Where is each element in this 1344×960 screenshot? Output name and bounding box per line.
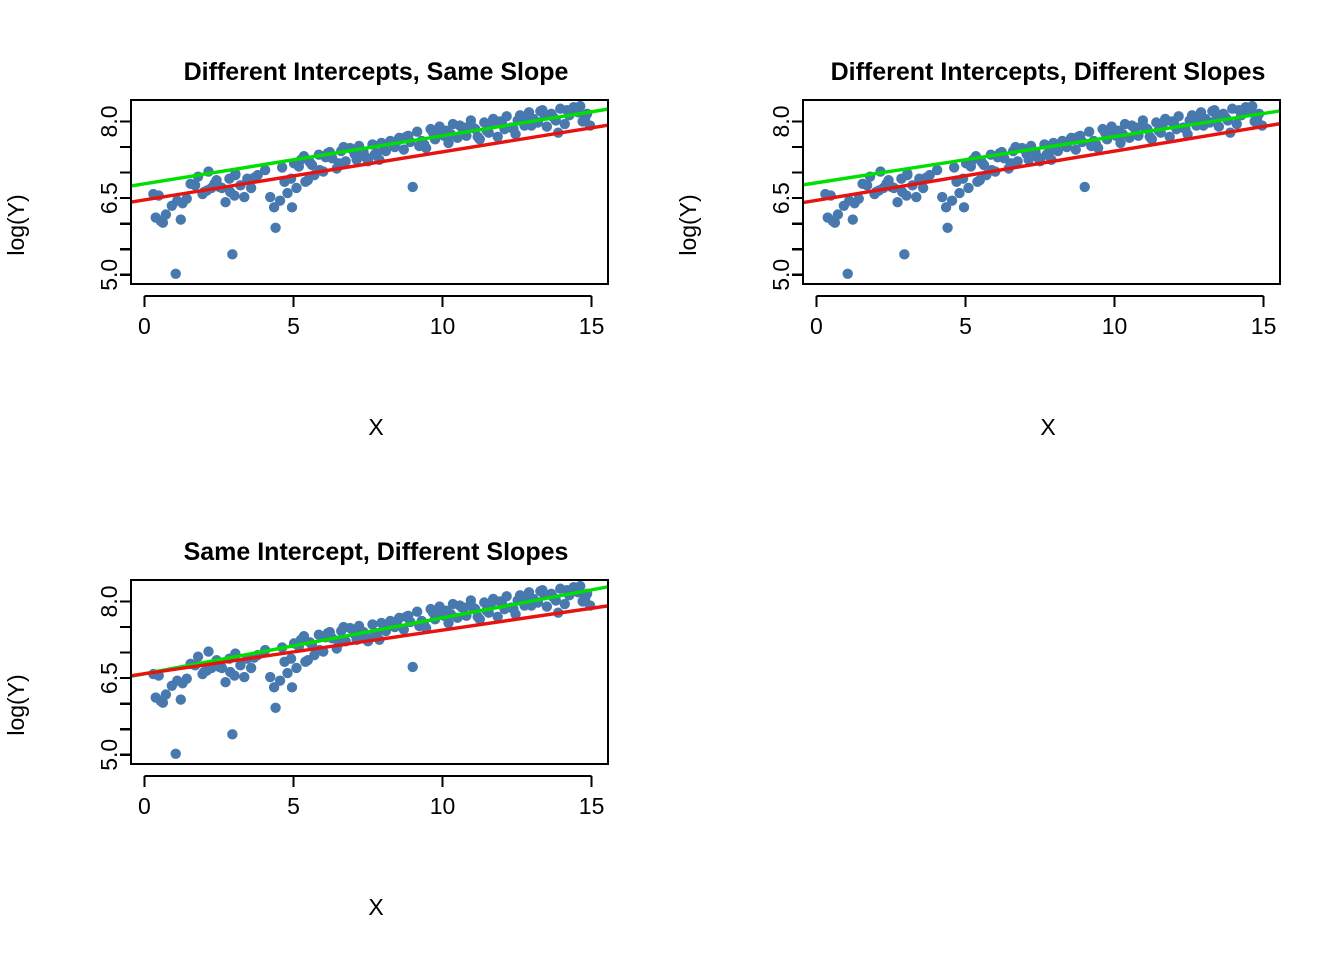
scatter-point	[291, 183, 301, 193]
x-axis-tick-label: 5	[287, 313, 300, 339]
scatter-point	[246, 663, 256, 673]
scatter-point	[883, 175, 893, 185]
x-axis-tick-label: 0	[138, 793, 151, 819]
scatter-point	[473, 132, 483, 142]
scatter-point	[161, 209, 171, 219]
scatter-point	[303, 655, 313, 665]
scatter-point	[286, 654, 296, 664]
scatter-point	[833, 209, 843, 219]
scatter-point	[963, 183, 973, 193]
scatter-point	[892, 197, 902, 207]
scatter-point	[443, 618, 453, 628]
panel-1-xlabel: X	[368, 414, 383, 440]
scatter-point	[932, 165, 942, 175]
x-axis-tick-label: 10	[430, 313, 456, 339]
scatter-point	[360, 152, 370, 162]
scatter-point	[265, 672, 275, 682]
y-axis-tick-label: 5.0	[768, 259, 794, 291]
scatter-point	[459, 602, 469, 612]
scatter-point	[270, 223, 280, 233]
x-axis-tick-label: 0	[138, 313, 151, 339]
scatter-point	[843, 269, 853, 279]
scatter-point	[408, 662, 418, 672]
panel-1-plot-area: 5.06.58.0051015	[96, 100, 608, 339]
green-fit-line	[131, 109, 608, 186]
scatter-point	[299, 631, 309, 641]
scatter-point	[1080, 182, 1090, 192]
scatter-point	[176, 694, 186, 704]
scatter-point	[227, 249, 237, 259]
scatter-point	[1032, 152, 1042, 162]
panel-2-title: Different Intercepts, Different Slopes	[831, 58, 1266, 86]
scatter-point	[171, 749, 181, 759]
scatter-point	[151, 212, 161, 222]
scatter-point	[269, 682, 279, 692]
y-axis-tick-label: 8.0	[768, 105, 794, 137]
x-axis-tick-label: 10	[430, 793, 456, 819]
red-fit-line	[131, 125, 608, 202]
scatter-point	[176, 214, 186, 224]
scatter-point	[949, 162, 959, 172]
scatter-point	[291, 663, 301, 673]
green-fit-line	[803, 111, 1280, 185]
scatter-point	[287, 202, 297, 212]
scatter-point	[1041, 149, 1051, 159]
panel-1-svg: Different Intercepts, Same Slope log(Y) …	[0, 0, 672, 480]
panel-3-title: Same Intercept, Different Slopes	[184, 538, 569, 566]
scatter-point	[862, 180, 872, 190]
scatter-point	[270, 703, 280, 713]
scatter-point	[167, 201, 177, 211]
scatter-point	[151, 692, 161, 702]
scatter-point	[580, 114, 590, 124]
scatter-point	[848, 214, 858, 224]
scatter-point	[443, 138, 453, 148]
scatter-point	[954, 188, 964, 198]
scatter-point	[190, 180, 200, 190]
x-axis-tick-label: 5	[287, 793, 300, 819]
scatter-point	[282, 188, 292, 198]
scatter-point	[412, 606, 422, 616]
panel-1-title: Different Intercepts, Same Slope	[184, 58, 569, 86]
scatter-point	[161, 689, 171, 699]
panel-2-plot-area: 5.06.58.0051015	[768, 100, 1280, 339]
scatter-point	[1247, 101, 1257, 111]
scatter-point	[839, 201, 849, 211]
panel-2-svg: Different Intercepts, Different Slopes l…	[672, 0, 1344, 480]
scatter-point	[182, 673, 192, 683]
scatter-point	[959, 202, 969, 212]
scatter-point	[325, 627, 335, 637]
panel-3-ylabel: log(Y)	[3, 674, 29, 735]
panel-different-intercepts-same-slope: Different Intercepts, Same Slope log(Y) …	[0, 0, 672, 480]
x-axis-tick-label: 15	[579, 793, 605, 819]
scatter-point	[412, 126, 422, 136]
panel-1-ylabel: log(Y)	[3, 194, 29, 255]
scatter-point	[823, 212, 833, 222]
scatter-point	[408, 182, 418, 192]
panel-same-intercept-different-slopes: Same Intercept, Different Slopes log(Y) …	[0, 480, 672, 960]
y-axis-tick-label: 6.5	[768, 182, 794, 214]
y-axis-tick-label: 6.5	[96, 662, 122, 694]
scatter-point	[911, 192, 921, 202]
scatter-point	[1214, 121, 1224, 131]
panel-3-svg: Same Intercept, Different Slopes log(Y) …	[0, 480, 672, 960]
scatter-point	[269, 202, 279, 212]
panel-3-xlabel: X	[368, 894, 383, 920]
scatter-point	[580, 594, 590, 604]
green-fit-line	[131, 587, 608, 676]
scatter-point	[220, 677, 230, 687]
scatter-point	[338, 622, 348, 632]
panel-2-ylabel: log(Y)	[675, 194, 701, 255]
panel-different-intercepts-different-slopes: Different Intercepts, Different Slopes l…	[672, 0, 1344, 480]
red-fit-line	[803, 124, 1280, 203]
scatter-point	[937, 192, 947, 202]
scatter-point	[287, 682, 297, 692]
scatter-point	[303, 175, 313, 185]
scatter-point	[542, 121, 552, 131]
x-axis-tick-label: 5	[959, 313, 972, 339]
scatter-point	[203, 646, 213, 656]
scatter-point	[227, 729, 237, 739]
scatter-point	[966, 161, 976, 171]
panel-2-xlabel: X	[1040, 414, 1055, 440]
y-axis-tick-label: 8.0	[96, 105, 122, 137]
scatter-point	[941, 202, 951, 212]
x-axis-tick-label: 15	[1251, 313, 1277, 339]
scatter-point	[265, 192, 275, 202]
scatter-point	[542, 601, 552, 611]
scatter-point	[211, 175, 221, 185]
scatter-point	[1115, 138, 1125, 148]
scatter-point	[167, 681, 177, 691]
scatter-point	[239, 192, 249, 202]
scatter-point	[197, 669, 207, 679]
panel-3-plot-area: 5.06.58.0051015	[96, 580, 608, 819]
scatter-point	[282, 668, 292, 678]
scatter-point	[225, 667, 235, 677]
scatter-point	[369, 149, 379, 159]
x-axis-tick-label: 15	[579, 313, 605, 339]
scatter-point	[899, 249, 909, 259]
figure-grid: Different Intercepts, Same Slope log(Y) …	[0, 0, 1344, 960]
scatter-point	[942, 223, 952, 233]
x-axis-tick-label: 0	[810, 313, 823, 339]
scatter-point	[294, 161, 304, 171]
red-fit-line	[131, 606, 608, 676]
scatter-point	[220, 197, 230, 207]
y-axis-tick-label: 8.0	[96, 585, 122, 617]
scatter-point	[1084, 126, 1094, 136]
scatter-point	[575, 101, 585, 111]
x-axis-tick-label: 10	[1102, 313, 1128, 339]
y-axis-tick-label: 6.5	[96, 182, 122, 214]
y-axis-tick-label: 5.0	[96, 259, 122, 291]
scatter-point	[975, 175, 985, 185]
scatter-point	[171, 269, 181, 279]
y-axis-tick-label: 5.0	[96, 739, 122, 771]
scatter-point	[239, 672, 249, 682]
